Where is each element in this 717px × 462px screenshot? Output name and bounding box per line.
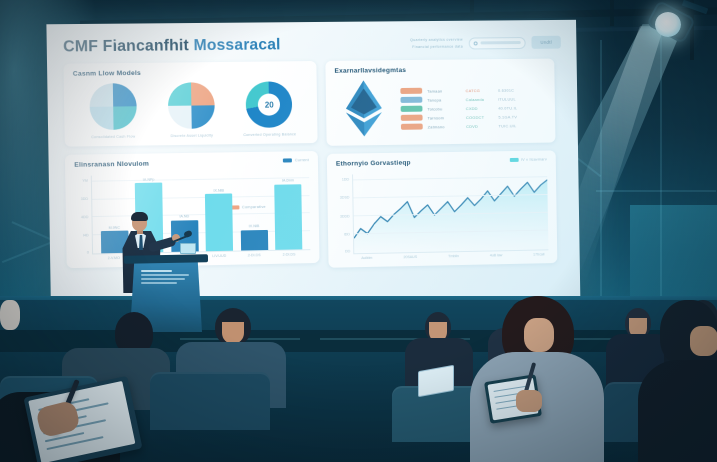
- row-badge: [401, 124, 423, 130]
- microphone-icon: [183, 230, 193, 239]
- speaker-hair: [131, 212, 148, 221]
- x-tick: 2-DI.DS: [275, 253, 302, 258]
- row-col-3: 0.6301C: [498, 87, 546, 93]
- placard-line: [141, 278, 185, 280]
- ethereum-table: Tamaan CATCG 0.6301C Tanopa Calaanda ITU: [400, 85, 546, 130]
- spotlight-icon: [655, 12, 681, 37]
- slide-title-accent: Mossaracal: [193, 36, 280, 54]
- table-row[interactable]: Tamaan CATCG 0.6301C: [400, 87, 546, 94]
- placard-line: [141, 270, 172, 272]
- line-chart-card: Ethornyio Gorvastieqp IV v Ilcavmarv: [327, 150, 558, 267]
- donut-chart-3[interactable]: 20 Converted Operating Balance: [231, 81, 308, 137]
- pie-chart-1[interactable]: Consolidated Cash Flow: [74, 83, 152, 140]
- legend-swatch: [510, 158, 519, 162]
- line-chart-plot-area: [352, 171, 548, 254]
- auditorium-scene: CMF Fiancanfhit Mossaracal Quarterly ana…: [0, 0, 717, 462]
- line-chart-y-axis: 1DD 3DSD 3DDD IDD DD: [336, 174, 353, 254]
- x-tick: 2-DI.DS: [241, 253, 268, 258]
- y-tick: I4D: [83, 233, 89, 237]
- slide-title-main: CMF Fiancanfhit: [63, 37, 189, 55]
- ethereum-card: Exarnarllavsidegmtas: [325, 59, 555, 146]
- row-col-1: Tanopa: [427, 97, 461, 102]
- row-col-3: ITULUUL: [498, 96, 546, 102]
- bar-item[interactable]: IX.NIB: [240, 173, 268, 251]
- line-chart-title: Ethornyio Gorvastieqp: [336, 160, 411, 168]
- pie-chart-2[interactable]: Discrete Asset Liquidity: [152, 82, 230, 139]
- x-tick: 20SAUS: [403, 255, 417, 259]
- pie-chart-graphic: [168, 82, 215, 129]
- row-badge: [400, 97, 422, 103]
- search-input[interactable]: Search: [469, 37, 526, 49]
- y-tick: 1DD: [342, 177, 349, 181]
- page-title: CMF Fiancanfhit Mossaracal: [63, 36, 281, 55]
- table-row[interactable]: Tanopa Calaanda ITULUUL: [400, 95, 546, 102]
- search-icon: [474, 41, 478, 45]
- header-meta-line-2: Financial performance data: [410, 43, 463, 50]
- audience-torso: [638, 360, 717, 462]
- slide-header: CMF Fiancanfhit Mossaracal Quarterly ana…: [63, 34, 561, 56]
- bar-chart-legend: Current: [283, 158, 309, 162]
- row-badge: [400, 88, 422, 94]
- pie-caption: Converted Operating Balance: [243, 132, 296, 137]
- legend-item[interactable]: Current: [283, 158, 309, 162]
- table-row[interactable]: Tarnsom COGDCT 5.1GA.TV: [401, 113, 547, 120]
- podium-laptop: [180, 243, 196, 254]
- header-meta: Quarterly analytics overview Financial p…: [410, 37, 463, 50]
- pie-caption: Discrete Asset Liquidity: [171, 134, 214, 139]
- bar-item[interactable]: IA.Dnm: [274, 173, 302, 251]
- update-button[interactable]: Undtl: [531, 36, 560, 49]
- cash-flow-title: Casnm Llow Models: [73, 68, 308, 78]
- placard-line: [141, 282, 177, 284]
- bar-value-label: IA.Dnm: [282, 179, 294, 183]
- bar-chart-title: Elinsranasn Nlovulom: [74, 161, 149, 169]
- bar-rect: [275, 184, 303, 250]
- bar-value-label: IA.NPp: [143, 177, 155, 181]
- podium-top-surface: [124, 254, 208, 263]
- pie-chart-graphic: [89, 83, 137, 130]
- pie-chart-row: Consolidated Cash Flow Discrete Asset Li…: [73, 79, 309, 140]
- line-chart-header: Ethornyio Gorvastieqp IV v Ilcavmarv: [336, 157, 547, 171]
- row-col-1: Tolcobu: [427, 106, 461, 111]
- y-tick: 3DD: [81, 197, 88, 201]
- bar-value-label: IX.NIB: [213, 188, 224, 192]
- x-tick: Aulblm: [361, 256, 372, 260]
- x-tick: Tmbiln: [448, 254, 459, 258]
- ceiling-truss: [610, 0, 614, 26]
- x-tick: 17trcali: [533, 252, 544, 256]
- legend-label: IV v Ilcavmarv: [521, 157, 547, 161]
- ethereum-logo-icon: [335, 78, 394, 139]
- bar-chart-y-axis: YM 3DD 4DD I4D 0: [74, 176, 92, 255]
- row-col-2: CATCG: [466, 87, 494, 92]
- podium-placard: [141, 270, 193, 286]
- table-row[interactable]: Zatmano CDVD TUIC.UIL: [401, 122, 547, 129]
- slide-header-actions: Quarterly analytics overview Financial p…: [410, 36, 561, 50]
- header-meta-line-1: Quarterly analytics overview: [410, 37, 463, 44]
- audience-hand: [516, 390, 542, 412]
- ethereum-card-title: Exarnarllavsidegmtas: [334, 66, 545, 75]
- y-tick: 3DDD: [340, 214, 350, 218]
- row-col-1: Tamaan: [427, 88, 461, 93]
- legend-item[interactable]: IV v Ilcavmarv: [510, 157, 547, 162]
- right-column: Exarnarllavsidegmtas: [325, 59, 557, 268]
- row-badge: [401, 106, 423, 112]
- audience-face: [690, 326, 717, 356]
- audience-head: [0, 300, 20, 330]
- legend-label: Current: [295, 158, 309, 162]
- audience-chair: [150, 372, 270, 430]
- pie-caption: Consolidated Cash Flow: [91, 135, 135, 140]
- row-col-2: CXDD: [466, 105, 494, 110]
- line-chart-plot: 1DD 3DSD 3DDD IDD DD: [336, 171, 548, 254]
- row-col-3: TUIC.UIL: [498, 122, 546, 128]
- line-chart-legend: IV v Ilcavmarv: [510, 157, 547, 162]
- row-col-3: 5.1GA.TV: [498, 114, 546, 120]
- legend-swatch: [283, 159, 292, 163]
- y-tick: YM: [82, 179, 88, 183]
- bar-chart-header: Elinsranasn Nlovulom Current: [74, 158, 309, 173]
- ethereum-content: Tamaan CATCG 0.6301C Tanopa Calaanda ITU: [335, 76, 547, 138]
- row-col-1: Zatmano: [428, 124, 462, 129]
- row-col-2: Calaanda: [466, 96, 494, 101]
- y-tick: 0: [87, 251, 89, 255]
- row-col-1: Tarnsom: [427, 115, 461, 120]
- row-col-3: 40.0TU.IL: [498, 105, 546, 111]
- y-tick: IDD: [344, 232, 350, 236]
- audience-face: [222, 322, 244, 344]
- donut-chart-graphic: 20: [246, 81, 293, 128]
- row-col-2: COGDCT: [466, 114, 494, 119]
- search-placeholder: Search: [481, 41, 521, 44]
- y-tick: 4DD: [81, 215, 88, 219]
- bar-value-label: IX.NIB: [249, 224, 260, 228]
- row-col-2: CDVD: [466, 123, 494, 128]
- placard-line: [141, 274, 189, 276]
- tablet-text-line: [496, 405, 518, 410]
- bar-rect: [241, 230, 268, 251]
- x-tick: 4uB law: [490, 253, 503, 257]
- y-tick: 3DSD: [340, 196, 350, 200]
- table-row[interactable]: Tolcobu CXDD 40.0TU.IL: [401, 104, 547, 111]
- y-tick: DD: [345, 249, 350, 253]
- cash-flow-card: Casnm Llow Models Consolidated Cash Flow…: [63, 61, 317, 147]
- audience-face: [524, 318, 554, 352]
- row-badge: [401, 115, 423, 121]
